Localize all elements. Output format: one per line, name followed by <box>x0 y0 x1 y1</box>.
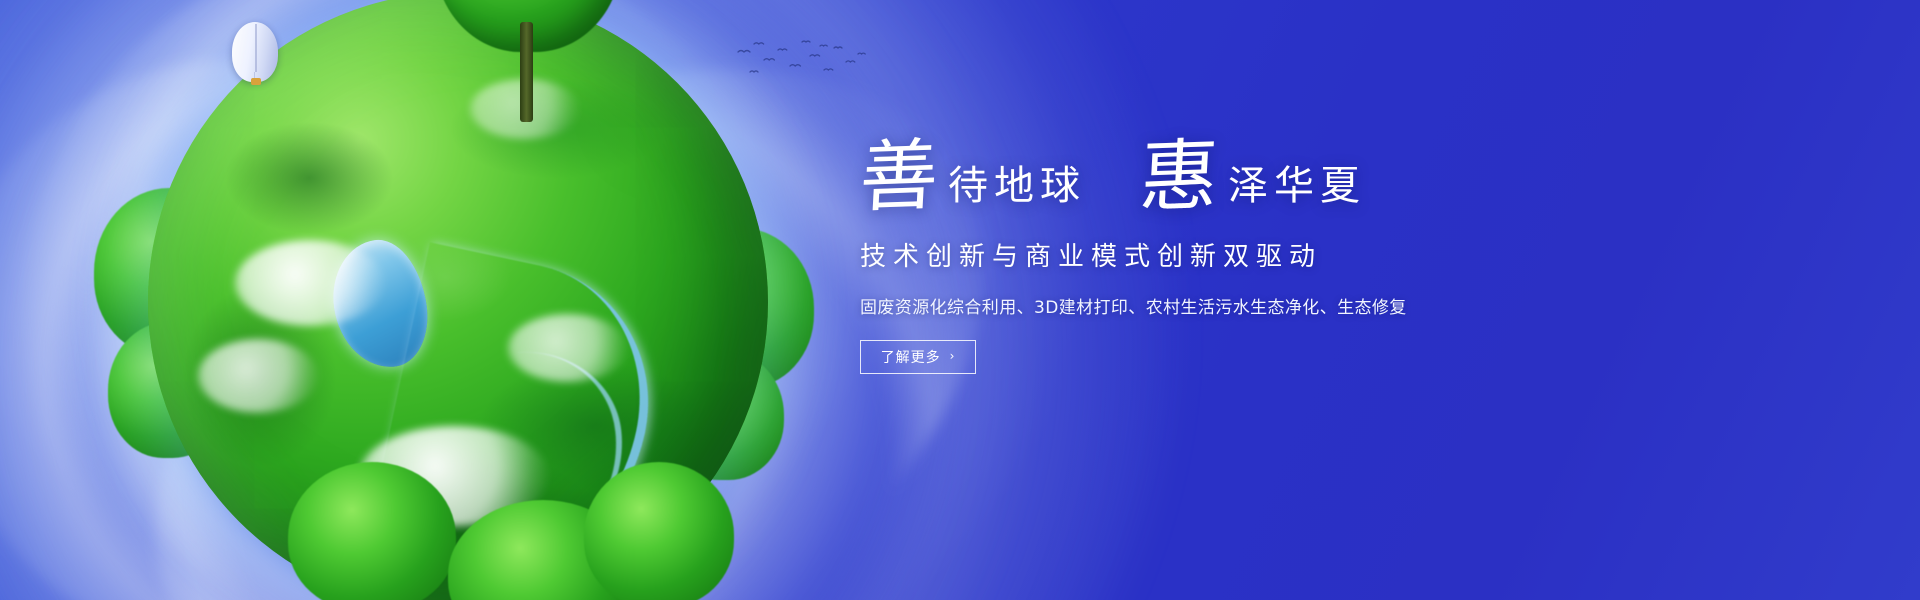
tree-icon <box>448 500 638 600</box>
tree-icon <box>108 322 228 458</box>
tagline: 技术创新与商业模式创新双驱动 <box>860 236 1460 273</box>
hot-air-balloon-icon <box>232 22 278 82</box>
tree-icon <box>668 228 814 388</box>
chevron-right-icon: › <box>950 350 956 362</box>
cloud-tuft <box>198 339 318 413</box>
cloud-tuft <box>508 314 628 382</box>
headline-small-chars-1: 待地球 <box>944 166 1086 216</box>
bird-flock-icon <box>734 38 874 86</box>
balloon-envelope <box>232 22 278 82</box>
tree-icon <box>288 462 456 600</box>
headline-brush-char-2: 惠 <box>1138 137 1226 218</box>
tree-trunk <box>520 22 533 122</box>
learn-more-label: 了解更多 <box>881 347 941 367</box>
balloon-line <box>254 72 255 80</box>
cloud-tuft <box>470 79 580 139</box>
tree-icon <box>584 462 734 600</box>
balloon-stripe <box>255 24 257 72</box>
cloud-tuft <box>359 426 549 526</box>
tree-icon <box>434 0 622 52</box>
tree-icon <box>664 350 784 480</box>
balloon-basket <box>251 78 261 85</box>
cloud-streak <box>0 0 650 600</box>
lake-shape <box>326 234 435 374</box>
hero-banner: 善 待地球 惠 泽华夏 技术创新与商业模式创新双驱动 固废资源化综合利用、3D建… <box>0 0 1920 600</box>
tree-icon <box>94 188 244 356</box>
tiny-planet-globe-image <box>148 0 768 600</box>
learn-more-button[interactable]: 了解更多 › <box>860 340 976 374</box>
page-title: 善 待地球 惠 泽华夏 <box>860 120 1460 216</box>
cloud-streak <box>0 0 856 600</box>
headline-brush-char-1: 善 <box>858 137 946 218</box>
hero-content: 善 待地球 惠 泽华夏 技术创新与商业模式创新双驱动 固废资源化综合利用、3D建… <box>860 120 1460 374</box>
river-shape <box>368 242 675 587</box>
globe-sphere <box>148 0 768 600</box>
description-text: 固废资源化综合利用、3D建材打印、农村生活污水生态净化、生态修复 <box>860 293 1460 318</box>
headline-small-chars-2: 泽华夏 <box>1224 166 1366 216</box>
cloud-tuft <box>235 240 385 326</box>
river-shape <box>423 342 633 561</box>
